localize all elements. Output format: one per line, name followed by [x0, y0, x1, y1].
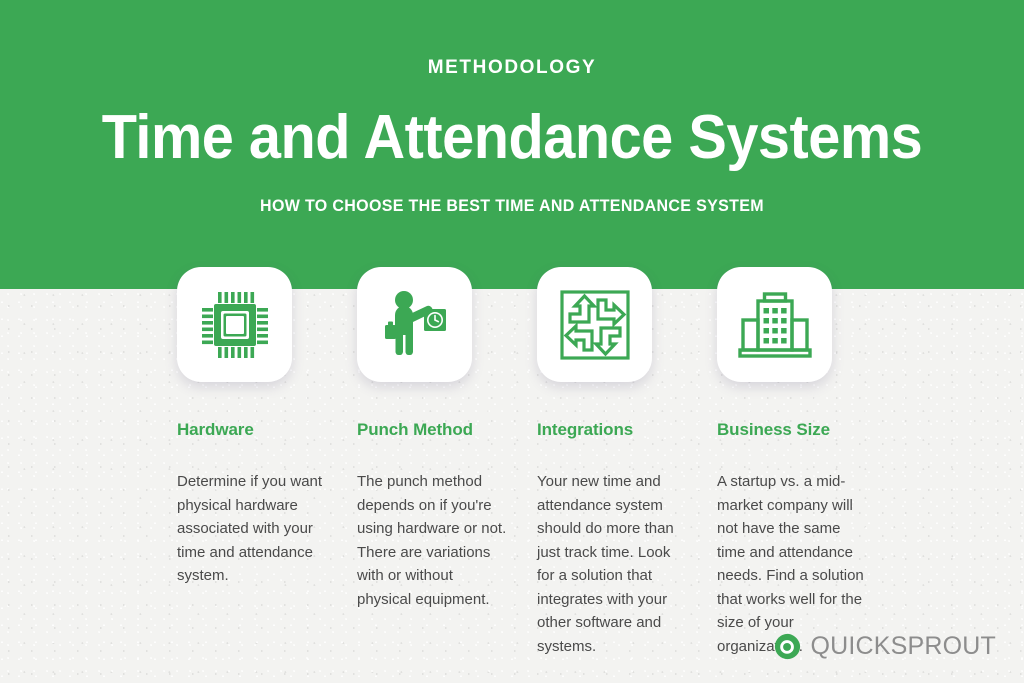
- column-hardware: Hardware Determine if you want physical …: [177, 267, 357, 667]
- column-body-punch-method: The punch method depends on if you're us…: [357, 470, 509, 611]
- quicksprout-droplet-icon: [774, 633, 801, 660]
- icon-card-integrations: [537, 267, 652, 382]
- cpu-chip-icon: [197, 287, 273, 363]
- column-business-size: Business Size A startup vs. a mid-market…: [717, 267, 897, 667]
- worker-punch-clock-icon: [377, 287, 453, 363]
- column-title-business-size: Business Size: [717, 420, 897, 440]
- page-title: Time and Attendance Systems: [36, 105, 988, 170]
- column-title-punch-method: Punch Method: [357, 420, 537, 440]
- column-title-integrations: Integrations: [537, 420, 717, 440]
- header-band: METHODOLOGY Time and Attendance Systems …: [0, 0, 1024, 289]
- column-body-business-size: A startup vs. a mid-market company will …: [717, 470, 869, 658]
- eyebrow-label: METHODOLOGY: [0, 57, 1024, 79]
- quicksprout-logo: QUICKSPROUT: [774, 632, 996, 661]
- icon-card-punch-method: [357, 267, 472, 382]
- column-integrations: Integrations Your new time and attendanc…: [537, 267, 717, 667]
- office-building-icon: [736, 290, 814, 360]
- icon-card-business-size: [717, 267, 832, 382]
- infographic-canvas: METHODOLOGY Time and Attendance Systems …: [0, 0, 1024, 683]
- column-body-integrations: Your new time and attendance system shou…: [537, 470, 689, 658]
- quicksprout-wordmark: QUICKSPROUT: [810, 632, 996, 661]
- page-subtitle: HOW TO CHOOSE THE BEST TIME AND ATTENDAN…: [15, 197, 1008, 216]
- column-punch-method: Punch Method The punch method depends on…: [357, 267, 537, 667]
- integration-arrows-icon: [556, 286, 634, 364]
- column-body-hardware: Determine if you want physical hardware …: [177, 470, 329, 588]
- columns-container: Hardware Determine if you want physical …: [177, 267, 897, 667]
- icon-card-hardware: [177, 267, 292, 382]
- column-title-hardware: Hardware: [177, 420, 357, 440]
